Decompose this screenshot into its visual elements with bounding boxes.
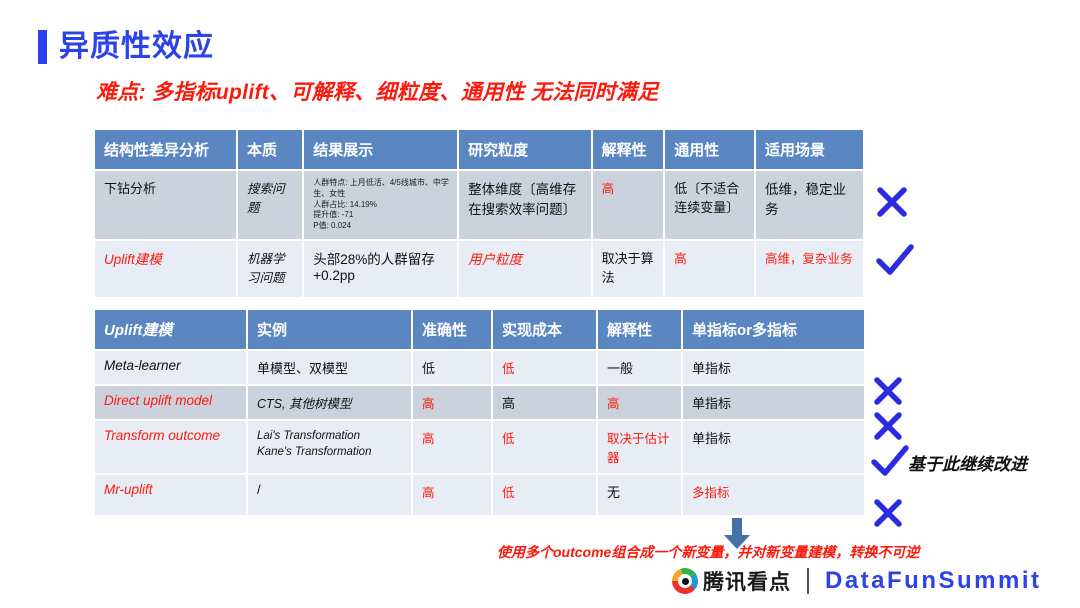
annotation-text: 使用多个outcome组合成一个新变量，并对新变量建模，转换不可逆 (497, 542, 919, 562)
table1-header-interpretability: 解释性 (592, 130, 665, 170)
table-row: Direct uplift model CTS, 其他树模型 高 高 高 单指标 (95, 385, 865, 420)
table2-r3-accuracy: 高 (412, 474, 492, 516)
table-row: Uplift建模 机器学习问题 头部28%的人群留存+0.2pp 用户粒度 取决… (95, 240, 864, 298)
table1-r0-granularity: 整体维度〔高维存在搜索效率问题〕 (458, 170, 592, 240)
table2-header-metric: 单指标or多指标 (682, 310, 865, 350)
table2-r1-accuracy: 高 (412, 385, 492, 420)
table2-header-accuracy: 准确性 (412, 310, 492, 350)
table2-r0-cost: 低 (492, 350, 597, 385)
table-row: Mr-uplift / 高 低 无 多指标 (95, 474, 865, 516)
table2-r3-cost: 低 (492, 474, 597, 516)
table2-r1-metric: 单指标 (682, 385, 865, 420)
table2-header-row: Uplift建模 实例 准确性 实现成本 解释性 单指标or多指标 (95, 310, 865, 350)
logo-divider (807, 568, 809, 594)
table1-r0-result: 人群特点: 上月低活、4/5线城市、中学生、女性 人群占比: 14.19% 提升… (303, 170, 458, 240)
table2-header-interpretability: 解释性 (597, 310, 682, 350)
tencent-kandian-logo: 腾讯看点 (672, 566, 791, 596)
table-row: 下钻分析 搜索问题 人群特点: 上月低活、4/5线城市、中学生、女性 人群占比:… (95, 170, 864, 240)
structural-difference-table: 结构性差异分析 本质 结果展示 研究粒度 解释性 通用性 适用场景 下钻分析 搜… (95, 130, 865, 299)
table2-r2-metric: 单指标 (682, 420, 865, 474)
cross-icon (875, 185, 909, 219)
table2-r2-cost: 低 (492, 420, 597, 474)
table2-r1-interpretability: 高 (597, 385, 682, 420)
table1-header-row: 结构性差异分析 本质 结果展示 研究粒度 解释性 通用性 适用场景 (95, 130, 864, 170)
subtitle-text: 难点: 多指标uplift、可解释、细粒度、通用性 无法同时满足 (96, 76, 659, 106)
table2-r3-interpretability: 无 (597, 474, 682, 516)
table2-r2-interpretability: 取决于估计器 (597, 420, 682, 474)
cross-icon (872, 375, 904, 407)
table-row: Meta-learner 单模型、双模型 低 低 一般 单指标 (95, 350, 865, 385)
uplift-methods-table: Uplift建模 实例 准确性 实现成本 解释性 单指标or多指标 Meta-l… (95, 310, 866, 517)
table2-r3-metric: 多指标 (682, 474, 865, 516)
table2-r0-accuracy: 低 (412, 350, 492, 385)
table2-r1-method: Direct uplift model (95, 385, 247, 420)
table1-r0-generality: 低〔不适合连续变量〕 (664, 170, 755, 240)
table1-r0-name: 下钻分析 (95, 170, 237, 240)
table1-r1-generality: 高 (664, 240, 755, 298)
table1-header-granularity: 研究粒度 (458, 130, 592, 170)
table2-r1-cost: 高 (492, 385, 597, 420)
table2-header-method: Uplift建模 (95, 310, 247, 350)
table1-r1-essence: 机器学习问题 (237, 240, 303, 298)
table2-r2-method: Transform outcome (95, 420, 247, 474)
table1-r1-scenario: 高维，复杂业务 (755, 240, 864, 298)
check-icon (875, 243, 915, 277)
table1-r0-interpretability: 高 (592, 170, 665, 240)
cross-icon (872, 497, 904, 529)
table1-header-result: 结果展示 (303, 130, 458, 170)
table2-header-example: 实例 (247, 310, 412, 350)
table2-header-cost: 实现成本 (492, 310, 597, 350)
table1-header-generality: 通用性 (664, 130, 755, 170)
page-title: 异质性效应 (38, 30, 214, 64)
table1-r1-result: 头部28%的人群留存+0.2pp (303, 240, 458, 298)
datafunsummit-label: DataFunSummit (825, 567, 1042, 595)
title-accent-bar (38, 30, 47, 64)
table1-header-name: 结构性差异分析 (95, 130, 237, 170)
table1-r1-name: Uplift建模 (95, 240, 237, 298)
table2-r0-interpretability: 一般 (597, 350, 682, 385)
table2-r0-method: Meta-learner (95, 350, 247, 385)
table2-r0-example: 单模型、双模型 (247, 350, 412, 385)
table2-r2-accuracy: 高 (412, 420, 492, 474)
table2-r3-example: / (247, 474, 412, 516)
table1-header-scenario: 适用场景 (755, 130, 864, 170)
table2-r0-metric: 单指标 (682, 350, 865, 385)
table1-r0-essence: 搜索问题 (237, 170, 303, 240)
table1-r1-granularity: 用户粒度 (458, 240, 592, 298)
table-row: Transform outcome Lai's Transformation K… (95, 420, 865, 474)
table1-r0-scenario: 低维，稳定业务 (755, 170, 864, 240)
improvement-note: 基于此继续改进 (908, 450, 1027, 475)
table2-r1-example: CTS, 其他树模型 (247, 385, 412, 420)
table2-r2-example: Lai's Transformation Kane's Transformati… (247, 420, 412, 474)
table2-r3-method: Mr-uplift (95, 474, 247, 516)
table1-r1-interpretability: 取决于算法 (592, 240, 665, 298)
footer-logos: 腾讯看点 DataFunSummit (672, 566, 1042, 596)
title-text: 异质性效应 (59, 32, 214, 62)
tencent-label: 腾讯看点 (703, 566, 791, 596)
cross-icon (872, 410, 904, 442)
table1-header-essence: 本质 (237, 130, 303, 170)
check-icon (870, 444, 910, 478)
tencent-eye-icon (672, 568, 698, 594)
